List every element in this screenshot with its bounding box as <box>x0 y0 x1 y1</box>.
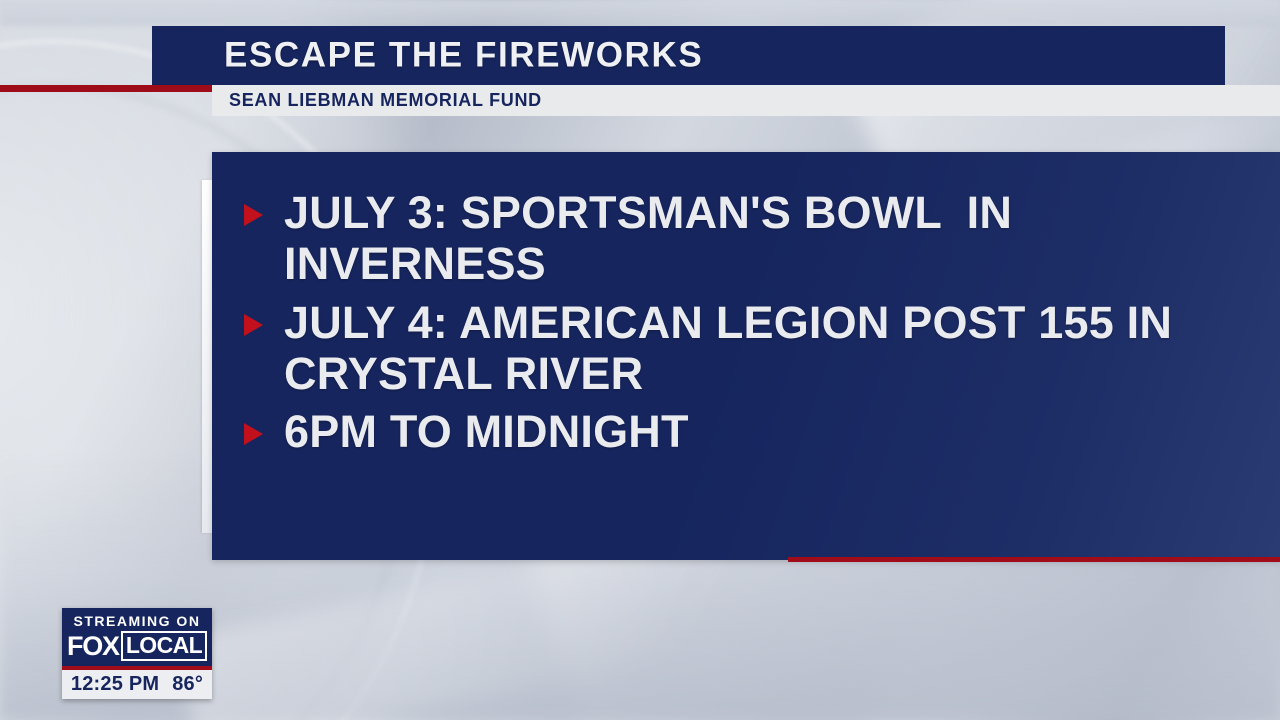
subheadline-title: SEAN LIEBMAN MEMORIAL FUND <box>229 90 542 111</box>
accent-rule-top <box>0 85 213 92</box>
clock-weather-strip: 12:25 PM 86° <box>62 670 212 699</box>
panel-left-accent-bar <box>202 180 212 533</box>
list-item-label: JULY 3: SPORTSMAN'S BOWL IN INVERNESS <box>284 188 1256 290</box>
list-item: 6PM TO MIDNIGHT <box>232 407 1256 458</box>
streaming-label: STREAMING ON <box>70 614 204 628</box>
list-item: JULY 3: SPORTSMAN'S BOWL IN INVERNESS <box>232 188 1256 290</box>
headline-title: ESCAPE THE FIREWORKS <box>224 35 703 75</box>
list-item-label: 6PM TO MIDNIGHT <box>284 407 689 458</box>
fox-local-logo: FOX LOCAL <box>70 631 204 661</box>
red-triangle-bullet-icon <box>244 423 263 445</box>
accent-rule-bottom <box>788 557 1280 562</box>
broadcast-graphic-stage: ESCAPE THE FIREWORKS SEAN LIEBMAN MEMORI… <box>0 0 1280 720</box>
current-time: 12:25 PM <box>71 673 159 695</box>
fox-wordmark: FOX <box>67 633 119 660</box>
list-item: JULY 4: AMERICAN LEGION POST 155 IN CRYS… <box>232 298 1256 400</box>
list-item-label: JULY 4: AMERICAN LEGION POST 155 IN CRYS… <box>284 298 1256 400</box>
subheadline-bar: SEAN LIEBMAN MEMORIAL FUND <box>212 85 1280 116</box>
red-triangle-bullet-icon <box>244 314 263 336</box>
red-triangle-bullet-icon <box>244 204 263 226</box>
background-top-band <box>0 0 1280 26</box>
bullet-list: JULY 3: SPORTSMAN'S BOWL IN INVERNESS JU… <box>232 188 1256 466</box>
streaming-bug-brand-block: STREAMING ON FOX LOCAL <box>62 608 212 666</box>
headline-bar: ESCAPE THE FIREWORKS <box>152 26 1225 85</box>
detail-panel: JULY 3: SPORTSMAN'S BOWL IN INVERNESS JU… <box>212 152 1280 560</box>
current-temperature: 86° <box>172 673 203 695</box>
local-wordmark: LOCAL <box>121 631 207 661</box>
streaming-bug: STREAMING ON FOX LOCAL 12:25 PM 86° <box>62 608 212 699</box>
